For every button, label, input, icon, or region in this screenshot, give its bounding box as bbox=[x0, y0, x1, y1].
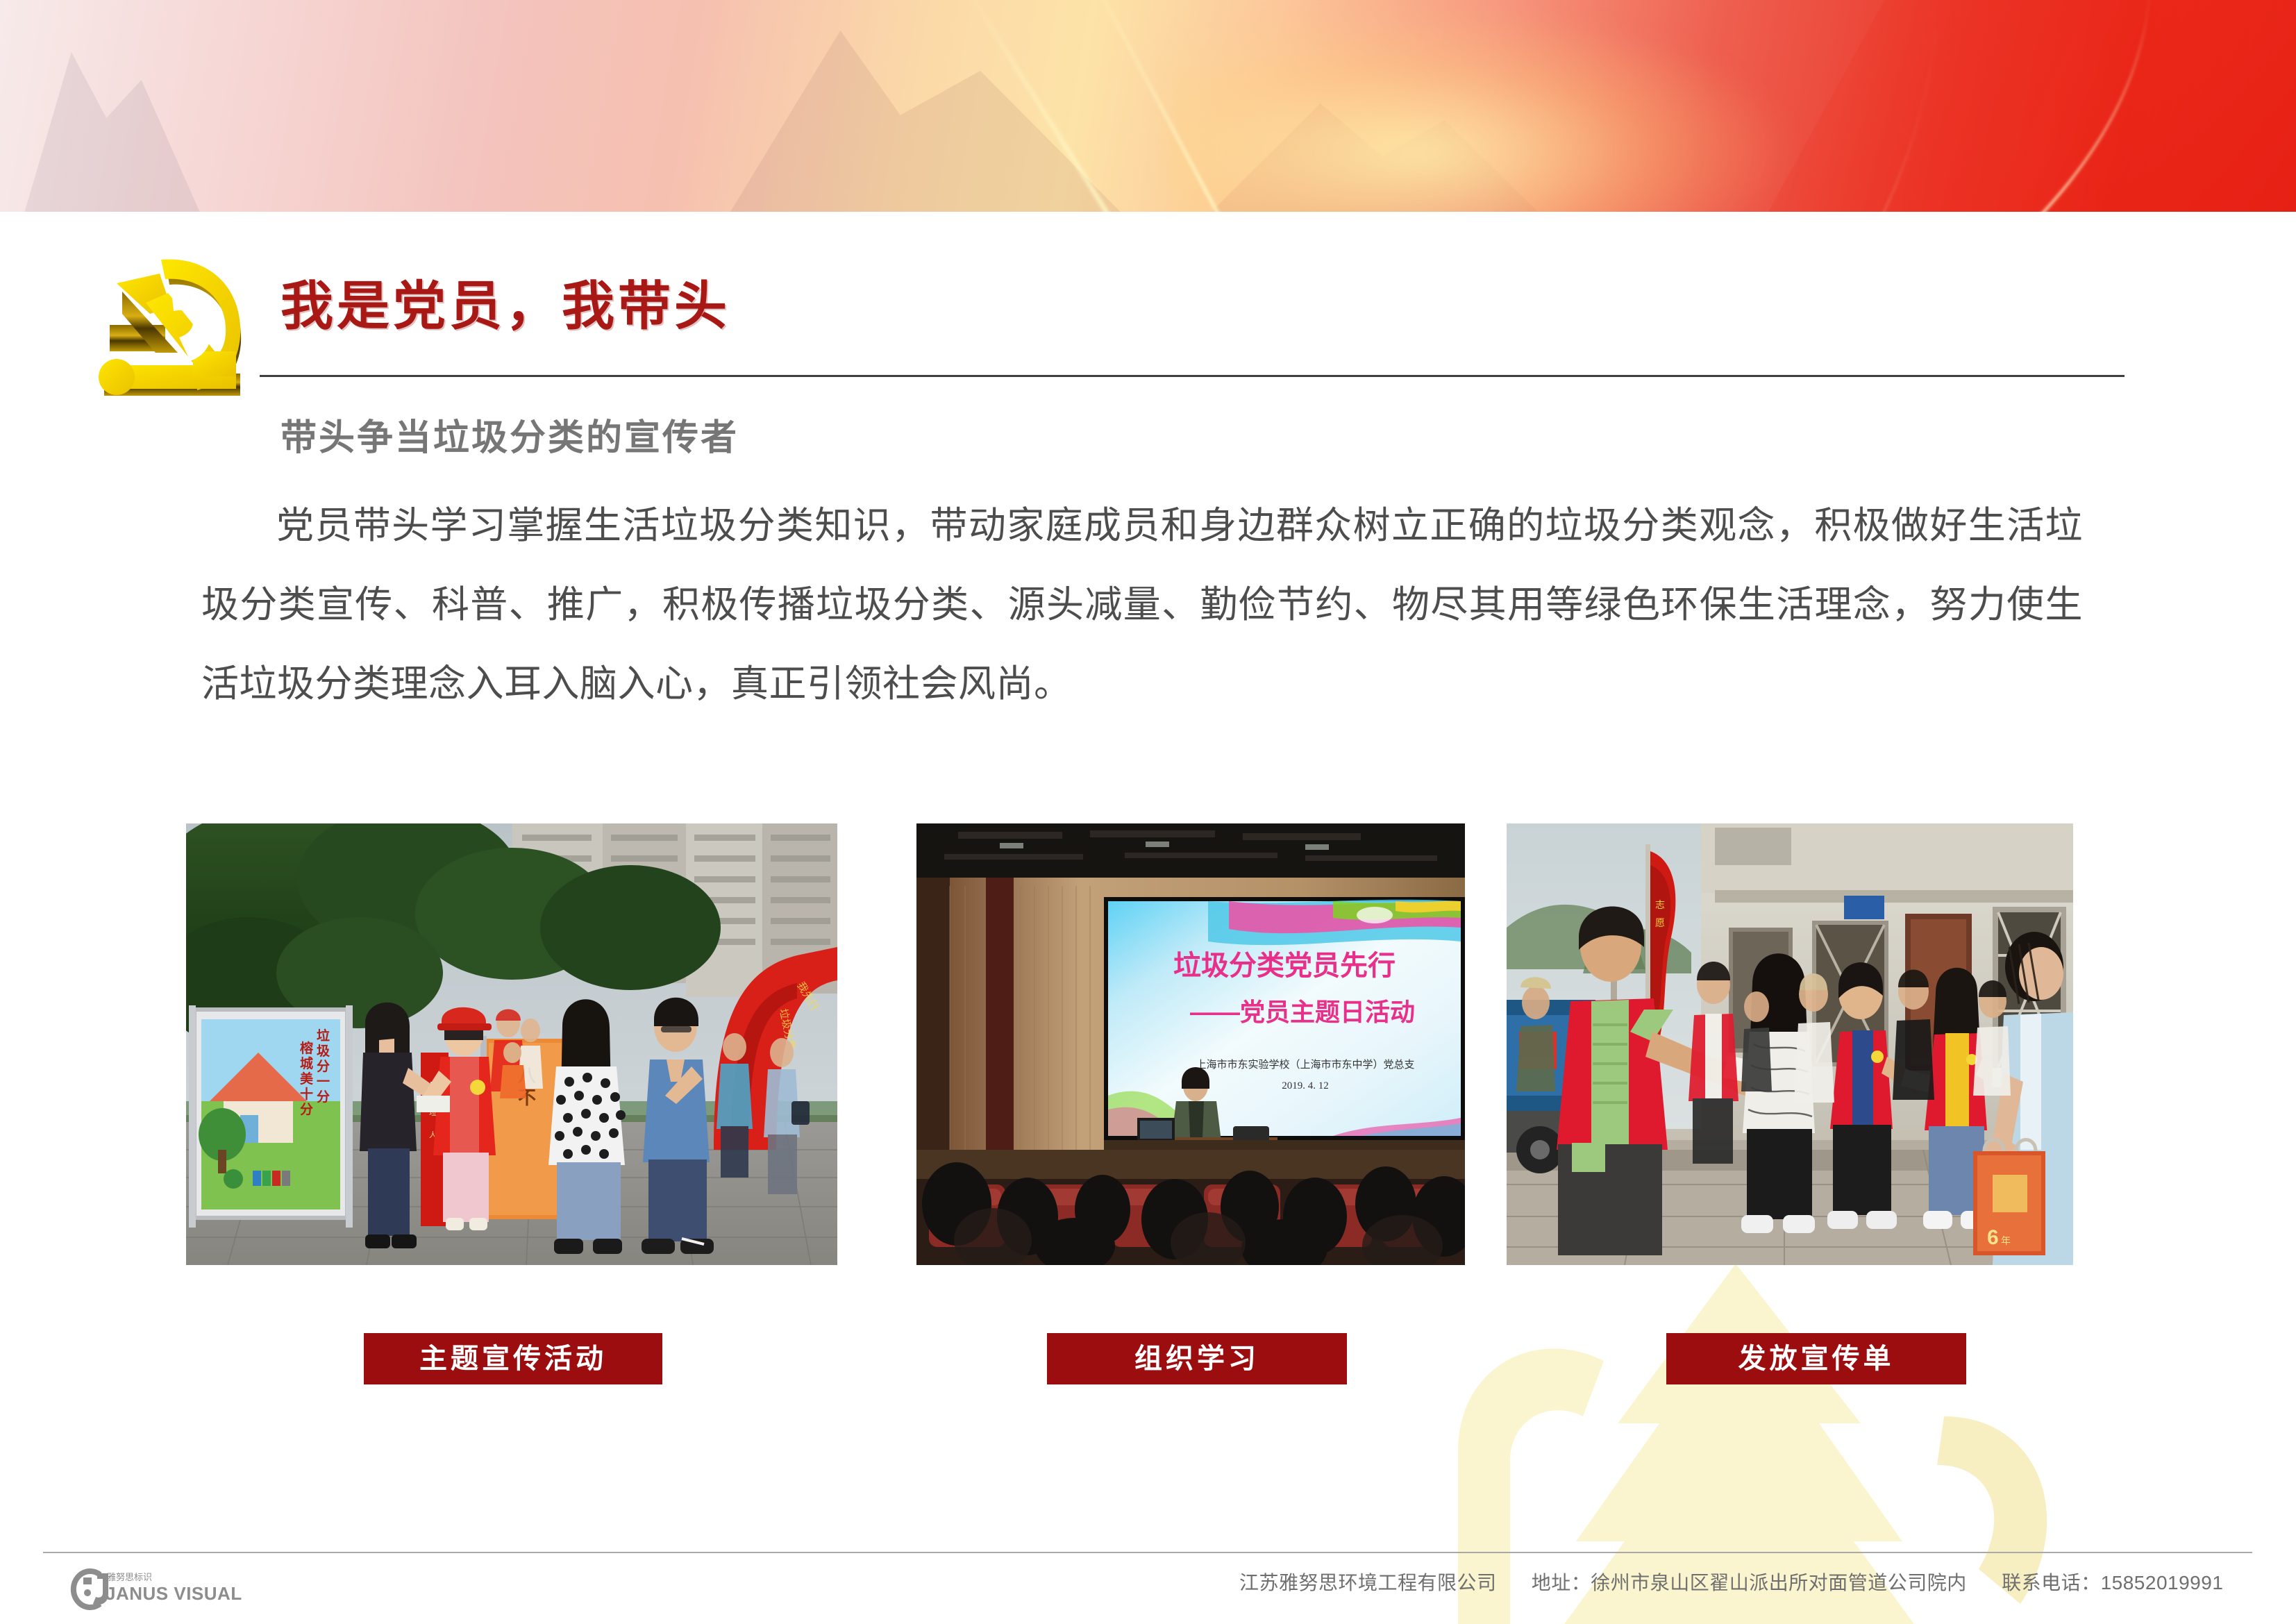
svg-text:垃: 垃 bbox=[317, 1028, 330, 1044]
footer-company: 江苏雅努思环境工程有限公司 bbox=[1239, 1572, 1497, 1593]
svg-text:分: 分 bbox=[317, 1059, 330, 1074]
banner-mountain-shape bbox=[680, 10, 1180, 212]
footer-address: 地址：徐州市泉山区翟山派出所对面管道公司院内 bbox=[1532, 1572, 1967, 1593]
title-divider bbox=[260, 375, 2125, 377]
banner-glow bbox=[1166, 7, 1791, 212]
photo-caption-3: 发放宣传单 bbox=[1666, 1333, 1966, 1384]
footer-divider bbox=[43, 1552, 2252, 1553]
slide-screen-org: 上海市市东实验学校（上海市市东中学）党总支 bbox=[1196, 1059, 1414, 1071]
photo-caption-2: 组织学习 bbox=[1047, 1333, 1347, 1384]
svg-text:美: 美 bbox=[300, 1071, 314, 1087]
logo-english-name: JANUS VISUAL bbox=[106, 1583, 242, 1604]
footer-phone: 联系电话：15852019991 bbox=[2002, 1572, 2223, 1593]
page-title: 我是党员，我带头 bbox=[280, 281, 730, 333]
svg-text:6: 6 bbox=[1987, 1226, 1999, 1249]
svg-text:志: 志 bbox=[1655, 899, 1665, 910]
footer-contact-info: 江苏雅努思环境工程有限公司 地址：徐州市泉山区翟山派出所对面管道公司院内 联系电… bbox=[1239, 1568, 2223, 1596]
party-emblem-hammer-sickle-icon bbox=[89, 247, 262, 405]
banner-mountain-shape bbox=[0, 38, 264, 212]
photo-caption-1: 主题宣传活动 bbox=[364, 1333, 662, 1384]
svg-text:圾: 圾 bbox=[317, 1044, 330, 1059]
svg-text:分: 分 bbox=[317, 1089, 330, 1105]
svg-text:城: 城 bbox=[300, 1055, 313, 1071]
svg-text:十: 十 bbox=[300, 1086, 313, 1102]
svg-text:一: 一 bbox=[317, 1075, 330, 1089]
svg-text:年: 年 bbox=[2001, 1235, 2011, 1246]
svg-text:榕: 榕 bbox=[300, 1040, 314, 1056]
photo-meeting-study: 垃圾分类党员先行 ——党员主题日活动 上海市市东实验学校（上海市市东中学）党总支… bbox=[916, 823, 1465, 1265]
photo-outdoor-campaign: 垃圾分类 我先行 垃圾分 一分 榕城美 十 bbox=[186, 823, 837, 1265]
slide-screen-subtitle: ——党员主题日活动 bbox=[1190, 998, 1415, 1026]
body-paragraph: 党员带头学习掌握生活垃圾分类知识，带动家庭成员和身边群众树立正确的垃圾分类观念，… bbox=[201, 486, 2083, 723]
janus-visual-logo-icon: 雅努思标识 JANUS VISUAL bbox=[69, 1568, 285, 1611]
slide-screen-date: 2019. 4. 12 bbox=[1282, 1080, 1329, 1091]
logo-chinese-name: 雅努思标识 bbox=[107, 1572, 152, 1582]
slide-screen-title: 垃圾分类党员先行 bbox=[1173, 951, 1396, 981]
header-banner-image bbox=[0, 0, 2296, 212]
svg-text:分: 分 bbox=[300, 1102, 313, 1117]
svg-text:愿: 愿 bbox=[1655, 917, 1665, 928]
party-emblem-watermark bbox=[1375, 1243, 2111, 1624]
photo-leaflet-distribution: 志愿 bbox=[1507, 823, 2073, 1265]
page-subtitle: 带头争当垃圾分类的宣传者 bbox=[280, 408, 739, 460]
slide-root: 我是党员，我带头 带头争当垃圾分类的宣传者 党员带头学习掌握生活垃圾分类知识，带… bbox=[0, 0, 2296, 1624]
banner-red-wedge bbox=[1768, 0, 2296, 212]
